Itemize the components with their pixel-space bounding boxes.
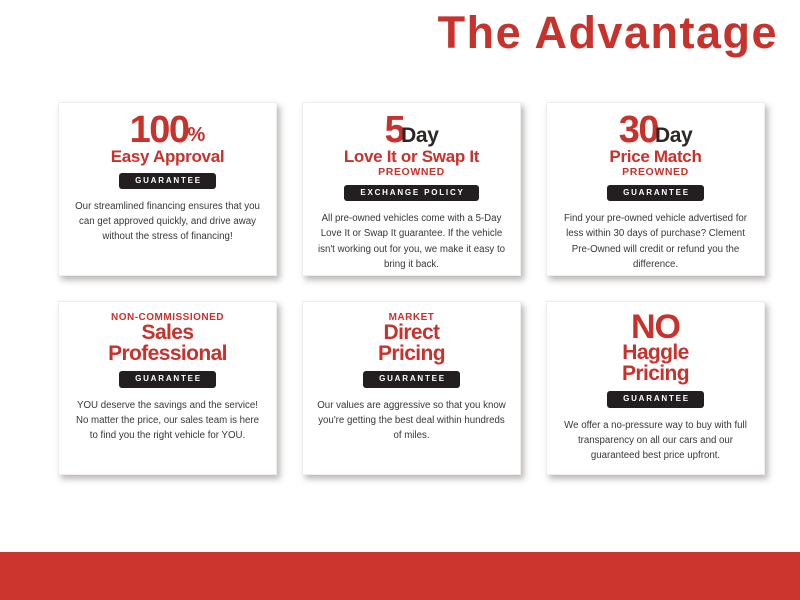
- headline-line-1: Sales: [142, 323, 194, 344]
- headline-number-row: 100 %: [130, 113, 206, 147]
- guarantee-badge: GUARANTEE: [119, 173, 216, 189]
- card-headline: NON-COMMISSIONED Sales Professional: [108, 312, 227, 364]
- headline-preowned-label: PREOWNED: [622, 167, 689, 179]
- headline-number: 30: [619, 113, 658, 147]
- card-body-text: YOU deserve the savings and the service!…: [70, 398, 265, 443]
- page-header: The Advantage: [0, 0, 800, 80]
- headline-line-1: Haggle: [622, 343, 688, 364]
- card-headline: 100 % Easy Approval: [111, 113, 225, 166]
- card-body-text: Find your pre-owned vehicle advertised f…: [558, 211, 753, 271]
- headline-number-row: 30 Day: [619, 113, 693, 147]
- headline-day-word: Day: [655, 126, 692, 147]
- card-headline: 5 Day Love It or Swap It PREOWNED: [344, 113, 479, 178]
- advantage-card-love-it-or-swap-it[interactable]: 5 Day Love It or Swap It PREOWNED EXCHAN…: [302, 102, 521, 276]
- headline-preowned-label: PREOWNED: [378, 167, 445, 179]
- headline-day-word: Day: [401, 126, 438, 147]
- card-headline: 30 Day Price Match PREOWNED: [609, 113, 701, 178]
- guarantee-badge: GUARANTEE: [607, 391, 704, 407]
- guarantee-badge: GUARANTEE: [119, 371, 216, 387]
- headline-line-1: Direct: [384, 323, 440, 344]
- card-headline: NO Haggle Pricing: [622, 312, 689, 384]
- percent-sign: %: [188, 125, 206, 147]
- advantage-card-easy-approval[interactable]: 100 % Easy Approval GUARANTEE Our stream…: [58, 102, 277, 276]
- headline-number-row: 5 Day: [385, 113, 439, 147]
- card-body-text: Our streamlined financing ensures that y…: [70, 199, 265, 244]
- card-headline: MARKET Direct Pricing: [378, 312, 445, 364]
- advantage-card-sales-professional[interactable]: NON-COMMISSIONED Sales Professional GUAR…: [58, 301, 277, 475]
- headline-subtitle: Price Match: [609, 148, 701, 165]
- advantage-card-price-match[interactable]: 30 Day Price Match PREOWNED GUARANTEE Fi…: [546, 102, 765, 276]
- headline-line-2: Professional: [108, 344, 227, 365]
- guarantee-badge: GUARANTEE: [607, 185, 704, 201]
- headline-number: 100: [130, 113, 189, 147]
- page-title: The Advantage: [438, 10, 778, 55]
- headline-line-2: Pricing: [622, 364, 689, 385]
- headline-subtitle: Love It or Swap It: [344, 148, 479, 165]
- guarantee-badge: GUARANTEE: [363, 371, 460, 387]
- card-body-text: We offer a no-pressure way to buy with f…: [558, 418, 753, 463]
- advantage-card-grid: 100 % Easy Approval GUARANTEE Our stream…: [58, 102, 766, 475]
- card-body-text: Our values are aggressive so that you kn…: [314, 398, 509, 443]
- card-body-text: All pre-owned vehicles come with a 5-Day…: [314, 211, 509, 271]
- headline-subtitle: Easy Approval: [111, 148, 225, 165]
- headline-line-2: Pricing: [378, 344, 445, 365]
- bottom-accent-bar: [0, 552, 800, 600]
- advantage-card-no-haggle-pricing[interactable]: NO Haggle Pricing GUARANTEE We offer a n…: [546, 301, 765, 475]
- exchange-policy-badge: EXCHANGE POLICY: [344, 185, 478, 201]
- advantage-card-market-direct-pricing[interactable]: MARKET Direct Pricing GUARANTEE Our valu…: [302, 301, 521, 475]
- headline-number: NO: [631, 312, 680, 343]
